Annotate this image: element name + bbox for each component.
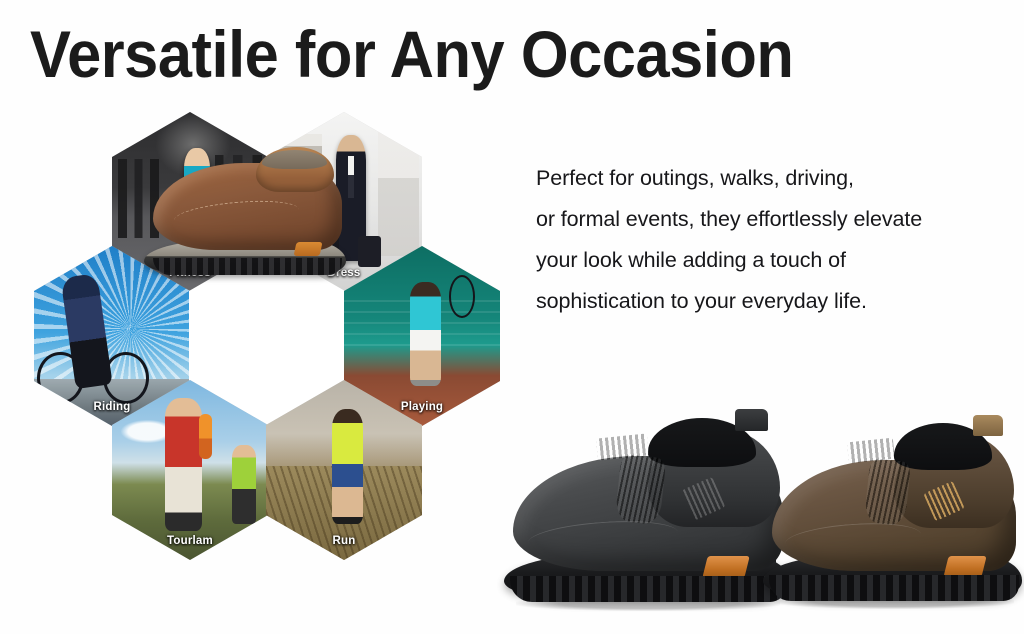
brown-shoe-orange-accent [943, 556, 986, 577]
grey-shoe-outsole-lugs [510, 576, 786, 603]
page-title: Versatile for Any Occasion [30, 18, 793, 90]
hiker-figure-secondary [232, 445, 255, 524]
runner-figure [332, 409, 363, 524]
luggage-left [316, 236, 339, 267]
luggage-right [358, 236, 381, 267]
brown-shoe-outsole-lugs [769, 575, 1019, 601]
marketing-banner: Versatile for Any Occasion Fitness Dress… [0, 0, 1024, 634]
description-line-2: or formal events, they effortlessly elev… [536, 199, 1016, 240]
description-text: Perfect for outings, walks, driving, or … [536, 158, 1016, 322]
hex-caption-tourism: Tourlam [112, 535, 268, 547]
description-line-1: Perfect for outings, walks, driving, [536, 158, 1016, 199]
hex-caption-run: Run [266, 535, 422, 547]
tennis-racket [449, 275, 476, 318]
grey-shoe-orange-accent [702, 556, 750, 578]
brown-shoe-heel-pull-tab [973, 415, 1003, 436]
fitness-figure [184, 148, 211, 260]
product-shoe-brown-image [758, 404, 1024, 618]
tennis-player-figure [410, 282, 441, 386]
lifestyle-hex-collage: Fitness Dress Riding Playing [34, 112, 454, 552]
hiker-figure-primary [165, 398, 202, 531]
product-shoe-grey-image [498, 398, 798, 620]
description-line-4: sophistication to your everyday life. [536, 281, 1016, 322]
description-line-3: your look while adding a touch of [536, 240, 1016, 281]
